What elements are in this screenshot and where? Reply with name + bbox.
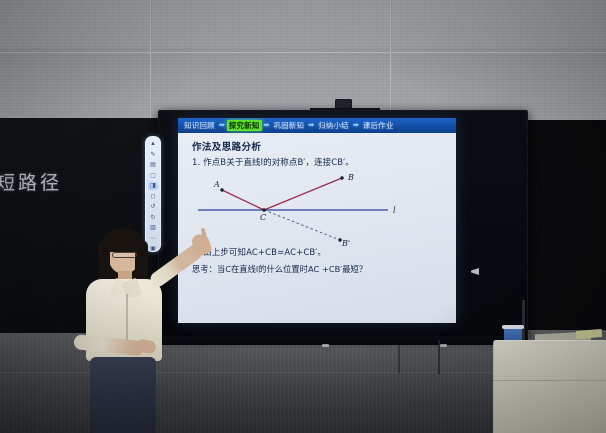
wall-seam-vertical-right (390, 0, 392, 120)
glasses-icon (112, 252, 137, 258)
wall-seam-vertical-left (150, 0, 152, 120)
back-wall (0, 0, 606, 120)
nav-item-0[interactable]: 知识回顾 (182, 120, 217, 131)
redo-icon[interactable]: ↻ (148, 214, 158, 222)
slide-heading: 作法及思路分析 (192, 139, 446, 153)
stand-pole-mid (438, 340, 440, 374)
slide-question: 思考：当C在直线l的什么位置时AC +CB′最短？ (192, 263, 446, 275)
podium-desk (493, 340, 606, 433)
geometry-figure: A B C B' l (192, 170, 442, 246)
point-label-a: A (213, 180, 220, 189)
nav-item-4[interactable]: 课后作业 (361, 120, 396, 131)
nav-arrow-icon-1: ➡ (264, 120, 270, 131)
point-c-dot (262, 208, 265, 211)
segment-c-bprime-dashed (264, 210, 340, 240)
eraser-icon[interactable]: ▢ (148, 172, 158, 180)
line-label-l: l (393, 206, 396, 215)
wall-seam-horizontal (0, 52, 606, 54)
nav-arrow-icon-2: ➡ (308, 120, 314, 131)
cup-lid (502, 325, 524, 329)
segment-cb (264, 178, 342, 210)
pen-icon[interactable]: ✎ (148, 151, 158, 159)
shapes-icon[interactable]: ◻ (148, 193, 158, 201)
point-a-dot (220, 188, 223, 191)
nav-item-3[interactable]: 归纳小结 (316, 120, 351, 131)
undo-icon[interactable]: ↺ (148, 203, 158, 211)
board-power-button[interactable] (322, 344, 329, 347)
classroom-scene: 短路径 知识回顾 ➡ 探究新知 ➡ 巩固新知 ➡ 归纳小结 ➡ 课后作业 作法及… (0, 0, 606, 433)
hair-side-left (98, 240, 110, 284)
palette-icon[interactable]: ◨ (148, 182, 158, 190)
slide-body: 作法及思路分析 1. 作点B关于直线l的对称点B′，连接CB′。 (178, 133, 456, 323)
nav-item-2[interactable]: 巩固新知 (271, 120, 306, 131)
nav-arrow-icon-0: ➡ (219, 120, 225, 131)
stand-pole-near (522, 300, 525, 342)
nav-arrow-icon-3: ➡ (353, 120, 359, 131)
smartboard-bottom-rail (158, 336, 528, 345)
blackboard-chalk-text: 短路径 (0, 168, 62, 195)
pointer-icon[interactable]: ▲ (148, 140, 158, 148)
geometry-figure-svg: A B C B' l (192, 170, 442, 246)
point-label-c: C (260, 213, 266, 222)
point-label-b: B (347, 173, 354, 182)
highlighter-icon[interactable]: ▤ (148, 161, 158, 169)
board-menu-button[interactable] (440, 344, 447, 347)
podium-seam (493, 380, 606, 381)
nav-item-1[interactable]: 探究新知 (227, 120, 262, 131)
projected-slide[interactable]: 知识回顾 ➡ 探究新知 ➡ 巩固新知 ➡ 归纳小结 ➡ 课后作业 作法及思路分析… (178, 118, 456, 323)
point-b-dot (340, 176, 343, 179)
slide-step-2: 2. 由上步可知AC+CB=AC+CB′。 (192, 246, 446, 258)
stand-pole-far (398, 345, 400, 373)
segment-ac (222, 190, 264, 210)
slide-step-1: 1. 作点B关于直线l的对称点B′，连接CB′。 (192, 156, 446, 168)
point-label-bprime: B' (341, 239, 350, 246)
smartboard-right-panel (455, 112, 525, 334)
slide-nav-ribbon: 知识回顾 ➡ 探究新知 ➡ 巩固新知 ➡ 归纳小结 ➡ 课后作业 (178, 118, 456, 133)
jeans (90, 357, 156, 433)
teacher-figure (60, 224, 185, 433)
